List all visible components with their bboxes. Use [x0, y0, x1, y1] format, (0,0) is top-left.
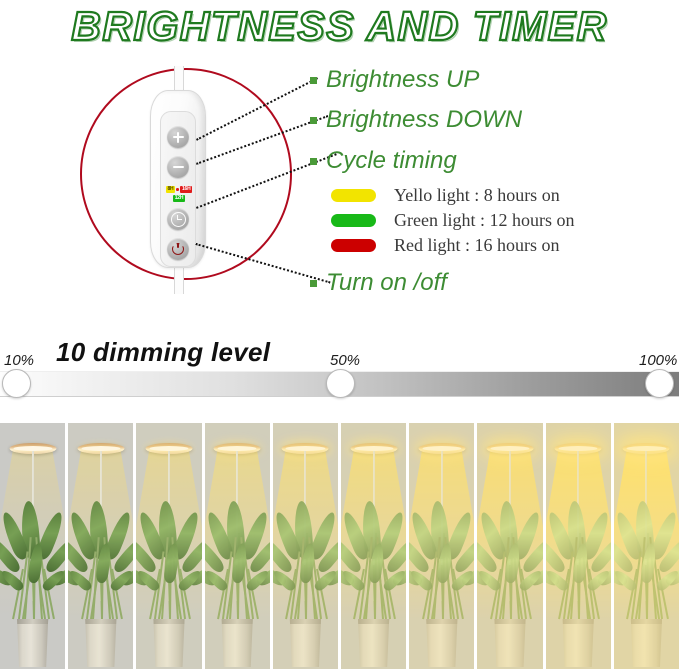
plant-pot — [561, 619, 595, 667]
legend-row-green: Green light : 12 hours on — [331, 208, 574, 233]
plant-pot — [220, 619, 254, 667]
indicator-8h: 8H — [166, 186, 175, 193]
brightness-sample-strip — [0, 423, 679, 669]
timer-indicators: 8H 16H 12H — [165, 186, 193, 202]
slider-knob-50[interactable] — [326, 369, 355, 398]
plus-icon-bar — [173, 136, 184, 139]
legend-row-red: Red light : 16 hours on — [331, 233, 574, 258]
brightness-sample-100 — [614, 423, 679, 669]
slider-label-10: 10% — [4, 352, 34, 369]
brightness-down-button[interactable] — [167, 156, 189, 178]
legend-label: Yello light : 8 hours on — [394, 185, 560, 206]
power-icon — [172, 243, 184, 255]
callout-brightness-down: Brightness DOWN — [310, 106, 522, 134]
callout-label: Cycle timing — [326, 147, 457, 175]
brightness-sample-90 — [546, 423, 611, 669]
legend-label: Green light : 12 hours on — [394, 210, 574, 231]
slider-label-50: 50% — [330, 352, 360, 369]
legend-label: Red light : 16 hours on — [394, 235, 560, 256]
cable-bottom — [174, 264, 184, 294]
page-title: BRIGHTNESS AND TIMER — [0, 2, 679, 50]
slider-label-100: 100% — [639, 352, 677, 369]
minus-icon — [173, 166, 184, 169]
bullet-square-icon — [310, 280, 317, 287]
bullet-square-icon — [310, 117, 317, 124]
indicator-16h: 16H — [180, 186, 192, 193]
power-button[interactable] — [167, 238, 189, 260]
callout-label: Turn on /off — [326, 269, 447, 297]
cycle-timing-button[interactable] — [167, 208, 189, 230]
brightness-sample-60 — [341, 423, 406, 669]
brightness-sample-20 — [68, 423, 133, 669]
timer-indicator-row-bottom: 12H — [165, 195, 193, 202]
controller-body: 8H 16H 12H — [150, 90, 206, 268]
plant-pot — [493, 619, 527, 667]
brightness-sample-10 — [0, 423, 65, 669]
brightness-sample-50 — [273, 423, 338, 669]
callout-brightness-up: Brightness UP — [310, 66, 479, 94]
timer-color-legend: Yello light : 8 hours on Green light : 1… — [331, 183, 574, 258]
bullet-square-icon — [310, 158, 317, 165]
timer-indicator-row-top: 8H 16H — [165, 186, 193, 193]
plant-pot — [84, 619, 118, 667]
dimming-title: 10 dimming level — [56, 337, 270, 368]
legend-swatch-red — [331, 239, 376, 252]
brightness-up-button[interactable] — [167, 126, 189, 148]
plant-pot — [425, 619, 459, 667]
bullet-square-icon — [310, 77, 317, 84]
callout-label: Brightness UP — [326, 66, 479, 94]
controller-panel: 8H 16H 12H — [160, 111, 196, 267]
slider-knob-100[interactable] — [645, 369, 674, 398]
indicator-dot — [176, 188, 179, 191]
page-title-text: BRIGHTNESS AND TIMER — [71, 3, 607, 50]
indicator-12h: 12H — [173, 195, 185, 202]
callout-cycle-timing: Cycle timing — [310, 147, 457, 175]
plant-pot — [16, 619, 50, 667]
legend-swatch-yellow — [331, 189, 376, 202]
plant-pot — [629, 619, 663, 667]
legend-row-yellow: Yello light : 8 hours on — [331, 183, 574, 208]
brightness-sample-30 — [136, 423, 201, 669]
callout-turn-on-off: Turn on /off — [310, 269, 447, 297]
plant-pot — [357, 619, 391, 667]
brightness-sample-80 — [477, 423, 542, 669]
callout-label: Brightness DOWN — [326, 106, 522, 134]
slider-knob-10[interactable] — [2, 369, 31, 398]
plant-pot — [152, 619, 186, 667]
clock-icon — [171, 212, 186, 227]
plant-pot — [288, 619, 322, 667]
legend-swatch-green — [331, 214, 376, 227]
brightness-sample-40 — [205, 423, 270, 669]
brightness-sample-70 — [409, 423, 474, 669]
remote-controller: 8H 16H 12H — [150, 80, 206, 278]
